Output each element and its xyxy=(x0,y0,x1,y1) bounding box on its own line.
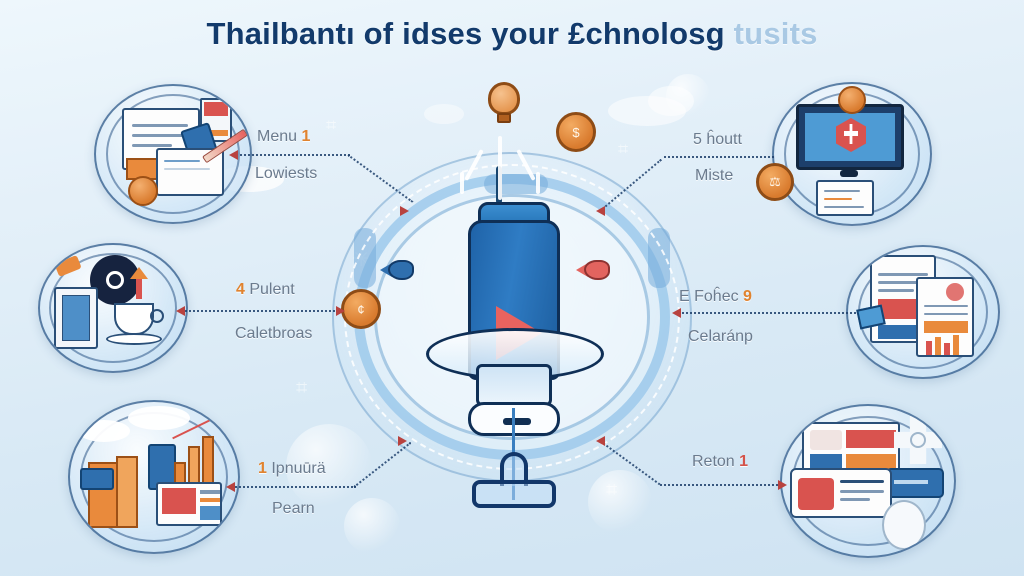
node-label-top-right-sub: Miste xyxy=(695,167,733,185)
connector-arrow xyxy=(229,150,238,160)
page-title-main: Thailbantı of idses your £chnolosg xyxy=(206,16,724,51)
connector-arrow xyxy=(226,482,235,492)
infographic-canvas: ✳ ✳ ⌗ ⌗ ⌗ ⌗ Thailbantı of idses your £ch… xyxy=(0,0,1024,576)
device-skirt xyxy=(476,364,552,406)
lightbulb-icon xyxy=(486,82,522,126)
node-mid-left[interactable] xyxy=(38,243,188,373)
node-label-bottom-left-sub: Peаrn xyxy=(272,500,315,518)
connector-arrow xyxy=(398,436,407,446)
connector-line xyxy=(678,312,856,314)
node-label-bottom-left-title: 1 Ipnuūrä xyxy=(258,460,326,478)
connector-line xyxy=(660,484,782,486)
page-title: Thailbantı of idses your £chnolosg tusit… xyxy=(0,16,1024,52)
label-text: Ipnuūrä xyxy=(271,460,325,477)
connector-arrow xyxy=(176,306,185,316)
connector-arrow xyxy=(596,436,605,446)
connector-line xyxy=(664,156,774,158)
node-top-right[interactable] xyxy=(772,82,932,226)
ghost-glyph: ⌗ xyxy=(326,116,336,134)
label-number: 4 xyxy=(236,281,245,298)
fish-red-icon xyxy=(576,260,610,280)
node-bottom-right[interactable] xyxy=(780,404,956,558)
label-text: E Foĥec xyxy=(679,288,739,305)
node-label-mid-left-title: 4 Pulent xyxy=(236,281,295,299)
connector-arrow xyxy=(596,206,605,216)
label-number: 1 xyxy=(301,128,310,145)
node-label-mid-right-sub: Celaránp xyxy=(688,328,753,346)
node-label-mid-right-title: E Foĥec 9 xyxy=(679,288,752,306)
page-title-tail: tusits xyxy=(734,16,818,51)
ghost-glyph: ⌗ xyxy=(296,378,307,398)
connector-line xyxy=(232,486,356,488)
label-number: 1 xyxy=(258,460,267,477)
device-stand xyxy=(472,452,556,510)
gear-badge-icon xyxy=(838,86,866,114)
network-lines-decor xyxy=(454,136,550,206)
node-label-top-right-title: 5 ĥoutt xyxy=(693,131,742,149)
label-number: 9 xyxy=(743,288,752,305)
label-text: Pulent xyxy=(249,281,294,298)
coin-badge-icon: ⚖ xyxy=(756,163,794,201)
label-text: Menu xyxy=(257,128,297,145)
node-label-mid-left-sub: Caletbroas xyxy=(235,325,312,343)
coin-badge-icon: ¢ xyxy=(341,289,381,329)
fish-blue-icon xyxy=(380,260,414,280)
coin-badge-icon: $ xyxy=(556,112,596,152)
connector-arrow xyxy=(400,206,409,216)
label-text: 5 ĥoutt xyxy=(693,131,742,148)
connector-line xyxy=(182,310,342,312)
node-label-bottom-right-title: Reton 1 xyxy=(692,453,748,471)
gear-badge-icon xyxy=(128,176,158,206)
node-mid-right[interactable] xyxy=(846,245,1000,379)
cloud-decor xyxy=(424,104,464,124)
connector-line xyxy=(236,154,350,156)
bokeh-decor xyxy=(666,74,710,118)
node-label-top-left-sub: Lowiests xyxy=(255,165,317,183)
connector-arrow xyxy=(778,480,787,490)
ghost-glyph: ⌗ xyxy=(606,480,617,500)
connector-arrow xyxy=(672,308,681,318)
node-label-top-left-title: Menu 1 xyxy=(257,128,310,146)
label-text: Reton xyxy=(692,453,735,470)
bokeh-decor xyxy=(344,498,400,554)
node-bottom-left[interactable] xyxy=(68,400,240,554)
connector-arrow xyxy=(336,306,345,316)
label-number: 1 xyxy=(739,453,748,470)
